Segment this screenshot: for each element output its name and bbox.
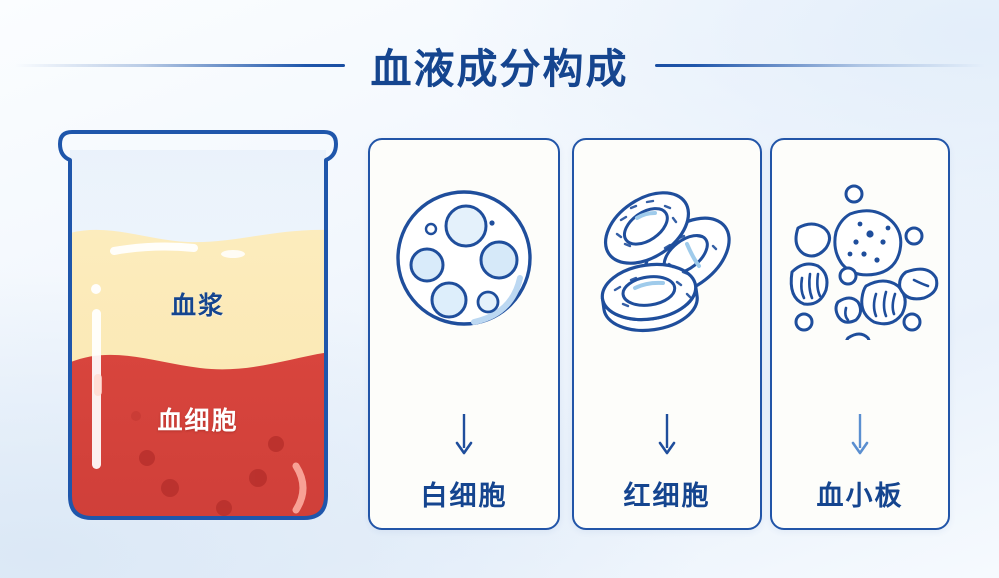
- beaker-svg: [48, 126, 348, 526]
- down-arrow-icon: [847, 412, 873, 458]
- blood-cells-label: 血细胞: [48, 401, 348, 437]
- beaker-illustration: 血浆 血细胞: [48, 126, 348, 526]
- card-label-wbc: 白细胞: [370, 474, 558, 513]
- wbc-arrow: [370, 412, 558, 458]
- infographic-canvas: 血液成分构成: [0, 0, 999, 578]
- page-title: 血液成分构成: [371, 35, 629, 95]
- down-arrow-icon: [451, 412, 477, 458]
- title-row: 血液成分构成: [0, 36, 999, 94]
- card-white-blood-cell[interactable]: 白细胞: [368, 138, 560, 530]
- title-rule-left: [15, 64, 345, 67]
- rbc-arrow: [574, 412, 760, 458]
- wbc-art: [370, 180, 558, 340]
- platelet-arrow: [772, 412, 948, 458]
- card-label-rbc: 红细胞: [574, 474, 760, 513]
- red-blood-cell-icon: [587, 180, 747, 340]
- card-red-blood-cell[interactable]: 红细胞: [572, 138, 762, 530]
- card-label-plt: 血小板: [772, 474, 948, 513]
- title-rule-right: [655, 64, 985, 67]
- plasma-label: 血浆: [48, 286, 348, 322]
- down-arrow-icon: [654, 412, 680, 458]
- blood-cell-layer: [66, 352, 330, 526]
- platelet-art: [772, 180, 948, 340]
- platelet-icon: [780, 180, 940, 340]
- rbc-art: [574, 180, 760, 340]
- card-platelet[interactable]: 血小板: [770, 138, 950, 530]
- beaker-contents: [48, 126, 348, 526]
- white-blood-cell-icon: [384, 180, 544, 340]
